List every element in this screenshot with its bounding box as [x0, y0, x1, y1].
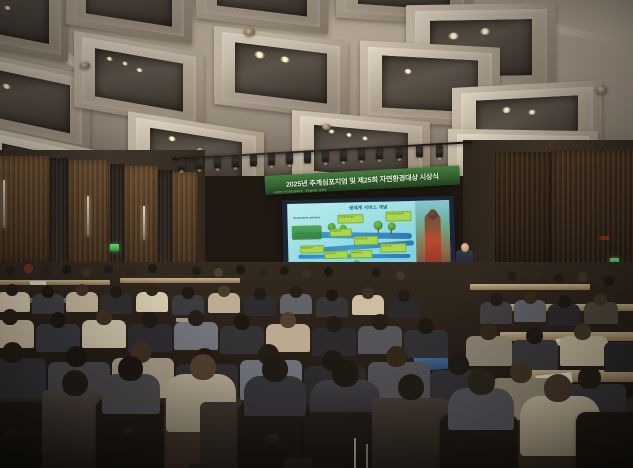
audience-head [42, 286, 54, 298]
audience-head [508, 272, 517, 281]
audience-head [468, 368, 495, 395]
audience-head [182, 287, 194, 299]
slide-label-box: 식량 및 원료 공급 [354, 236, 378, 246]
audience-body [244, 376, 306, 416]
stage-light [376, 147, 383, 160]
audience-head [24, 264, 33, 273]
chair-bow [266, 434, 279, 442]
stage-light [214, 156, 221, 169]
chair-cover [304, 412, 380, 468]
speaker-head [461, 243, 469, 252]
stage-light [196, 157, 203, 170]
audience-head [258, 268, 267, 277]
audience-head [50, 312, 66, 328]
stage-light [436, 145, 443, 158]
audience-head [280, 266, 289, 275]
audience-head [578, 366, 601, 389]
draped-coat [42, 390, 102, 468]
audience-head [42, 267, 51, 276]
wood-wall-panel [124, 166, 158, 274]
audience-head [290, 286, 302, 298]
audience-head [332, 360, 359, 387]
audience-head [62, 265, 71, 274]
ceiling-downlight [80, 62, 90, 69]
ceiling-coffer [292, 110, 430, 176]
audience-body [466, 336, 512, 366]
audience-head [372, 268, 381, 277]
audience-body [220, 326, 264, 354]
audience-body [604, 342, 633, 372]
wall-accent-light [599, 236, 609, 240]
audience-head [254, 288, 266, 300]
audience-head [418, 318, 434, 334]
audience-body [404, 330, 448, 358]
audience-head [214, 268, 223, 277]
tripod-leg [366, 444, 368, 468]
handout-paper [30, 281, 46, 285]
audience-head [396, 271, 405, 280]
conference-table [470, 284, 590, 290]
audience-head [398, 374, 424, 400]
audience-head [578, 272, 588, 282]
audience-body [174, 322, 218, 350]
audience-head [2, 309, 18, 325]
acoustic-wall-panel [50, 158, 68, 270]
stage-light [340, 149, 347, 162]
audience-head [524, 291, 537, 304]
audience-head [82, 268, 91, 277]
ceiling-downlight [596, 86, 607, 94]
wall-light-strip [3, 180, 5, 228]
chair-cover [576, 412, 633, 468]
tripod-leg [354, 438, 356, 468]
acoustic-wall-panel [110, 164, 124, 274]
audience-head [326, 316, 342, 332]
slide-label-box: 문화 여가 경관 [380, 243, 406, 253]
exit-sign-icon [110, 244, 119, 251]
ceiling-coffer [0, 0, 68, 62]
audience-head [324, 267, 333, 276]
audience-head [62, 370, 88, 396]
audience-head [574, 323, 591, 340]
stage-light [178, 158, 185, 171]
slide-label-box: 생물다양성 보전 [300, 245, 324, 254]
audience-head [302, 269, 311, 278]
ceiling-downlight [244, 28, 255, 36]
wood-wall-panel [172, 172, 198, 274]
audience-head [190, 354, 216, 380]
ceiling-downlight [322, 124, 331, 130]
stage-light [396, 146, 403, 159]
audience-head [118, 356, 143, 381]
acoustic-wall-panel [158, 170, 172, 274]
stage-light [250, 154, 257, 167]
floor-bag [188, 464, 210, 468]
stage-light [268, 153, 275, 166]
wall-light-strip [87, 196, 89, 236]
audience-head [142, 312, 158, 328]
audience-head [6, 284, 18, 296]
stage-light [322, 150, 329, 163]
audience-seating [0, 262, 633, 468]
stage-light [232, 155, 239, 168]
conference-hall-photo: 2025년 추계심포지엄 및 제25회 자연환경대상 시상식 사단법인 한국환경… [0, 0, 633, 468]
chair-cover [0, 402, 46, 468]
conference-table [0, 280, 110, 285]
draped-coat [372, 398, 448, 468]
wood-wall-panel [68, 160, 110, 272]
floor-bag [284, 458, 312, 468]
audience-head [2, 342, 23, 363]
audience-head [6, 266, 15, 275]
slide-label-box: 수자원 공급 및 수질정화 [385, 211, 411, 222]
audience-body [560, 336, 608, 366]
chair-bow [122, 428, 134, 435]
audience-body [0, 358, 46, 398]
audience-head [386, 346, 407, 367]
ceiling-coffer [214, 26, 348, 120]
slide-label-box: 토양형성 유지 [330, 228, 352, 237]
audience-head [126, 267, 135, 276]
audience-head [530, 270, 539, 279]
wall-light-strip [143, 206, 145, 240]
banner-title: 2025년 추계심포지엄 및 제25회 자연환경대상 시상식 [286, 171, 439, 189]
audience-head [362, 287, 374, 299]
audience-head [480, 323, 497, 340]
audience-head [192, 266, 201, 275]
audience-head [594, 293, 607, 306]
audience-head [372, 314, 388, 330]
slide-label-box: 재해 완화 조절 [350, 250, 372, 259]
audience-head [448, 354, 469, 375]
audience-head [236, 265, 245, 274]
audience-head [604, 276, 614, 286]
audience-head [188, 310, 204, 326]
audience-head [170, 268, 179, 277]
audience-head [104, 265, 113, 274]
audience-head [398, 290, 410, 302]
banner-subtitle: 사단법인 한국환경생태학회 · 국립생태원 · 환경부 [273, 188, 326, 195]
audience-head [148, 264, 157, 273]
slide-label-box: 탄소흡수 저장 [324, 251, 348, 260]
audience-head [96, 309, 112, 325]
audience-head [76, 284, 88, 296]
slide-forest [292, 225, 322, 240]
stage-light [286, 152, 293, 165]
audience-head [110, 286, 122, 298]
audience-head [218, 285, 230, 297]
audience-head [280, 312, 296, 328]
audience-head [326, 289, 338, 301]
audience-head [554, 274, 563, 283]
conference-table [120, 278, 240, 283]
stage-light [416, 145, 423, 158]
audience-head [544, 374, 572, 402]
audience-head [490, 293, 503, 306]
audience-head [262, 356, 288, 382]
audience-head [234, 314, 250, 330]
slide-subtitle: Ecosystem services [293, 215, 320, 220]
audience-head [348, 270, 357, 279]
wood-wall-panel [0, 156, 50, 262]
audience-head [66, 346, 87, 367]
audience-head [146, 284, 158, 296]
chair-bow [4, 430, 13, 435]
stage-light [358, 148, 365, 161]
slide-label-box: 기후조절 및 대기정화 [337, 214, 363, 224]
audience-head [510, 361, 532, 383]
audience-head [558, 295, 571, 308]
audience-head [526, 327, 543, 344]
stage-light [304, 151, 311, 164]
